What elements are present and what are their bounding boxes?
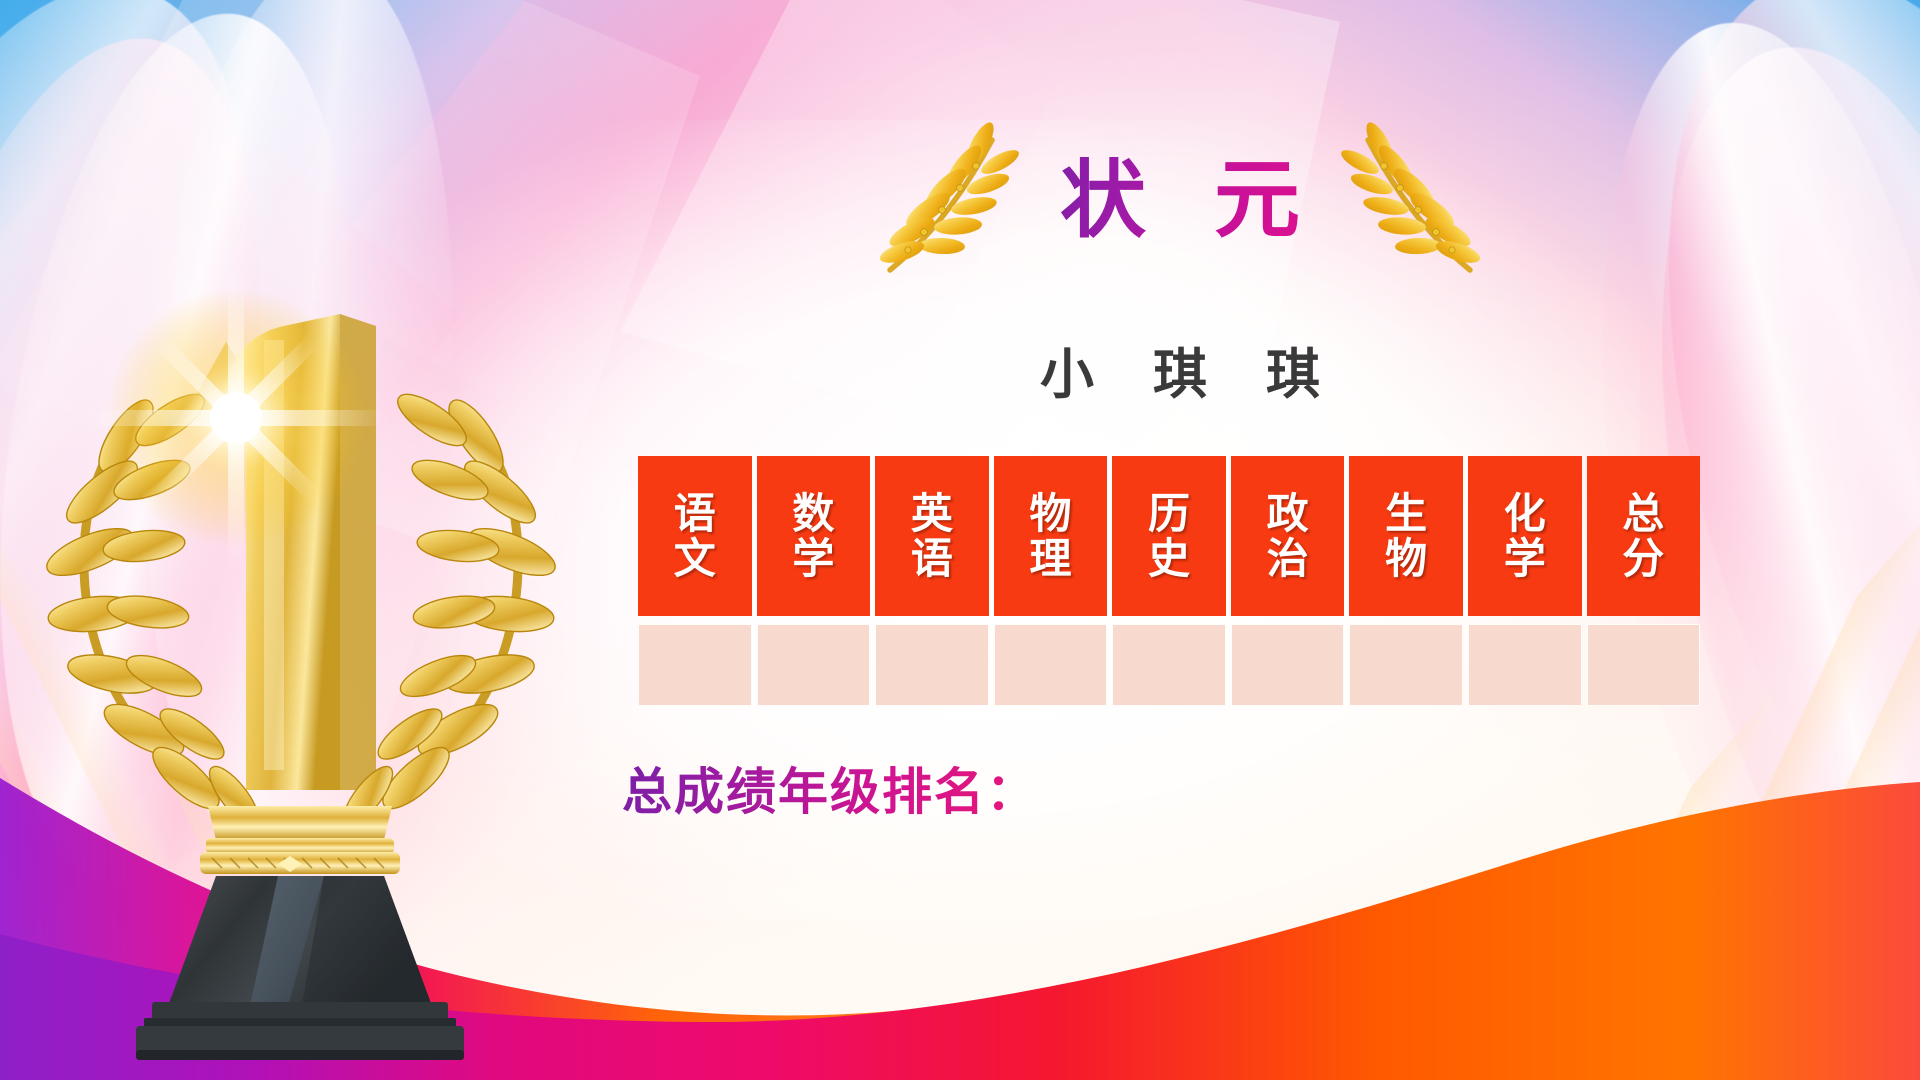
table-header-cell: 化 学 (1468, 456, 1582, 616)
score-cell[interactable] (757, 624, 871, 706)
title-row: 状 元 (860, 110, 1500, 290)
score-cell[interactable] (1587, 624, 1701, 706)
poster-content: 状 元 (0, 0, 1920, 1080)
page-title: 状 元 (1032, 157, 1328, 243)
table-header-cell: 历 史 (1112, 456, 1226, 616)
laurel-branch-left-icon (876, 118, 1026, 283)
table-header-cell: 总 分 (1587, 456, 1701, 616)
score-cell[interactable] (875, 624, 989, 706)
table-header-cell: 数 学 (757, 456, 871, 616)
grade-ranking-label: 总成绩年级排名： (622, 752, 1038, 824)
table-header-cell: 政 治 (1231, 456, 1345, 616)
score-cell[interactable] (1112, 624, 1226, 706)
table-header-cell: 生 物 (1349, 456, 1463, 616)
score-cell[interactable] (1349, 624, 1463, 706)
poster-canvas: 状 元 (0, 0, 1920, 1080)
score-cell[interactable] (638, 624, 752, 706)
score-table-value-row (638, 624, 1700, 706)
table-header-cell: 英 语 (875, 456, 989, 616)
student-name: 小 琪 琪 (860, 330, 1500, 409)
score-cell[interactable] (1468, 624, 1582, 706)
score-table: 语 文 数 学 英 语 物 理 历 史 (638, 456, 1700, 706)
score-cell[interactable] (1231, 624, 1345, 706)
laurel-branch-right-icon (1334, 118, 1484, 283)
score-table-header-row: 语 文 数 学 英 语 物 理 历 史 (638, 456, 1700, 616)
table-header-cell: 物 理 (994, 456, 1108, 616)
table-header-cell: 语 文 (638, 456, 752, 616)
score-cell[interactable] (994, 624, 1108, 706)
